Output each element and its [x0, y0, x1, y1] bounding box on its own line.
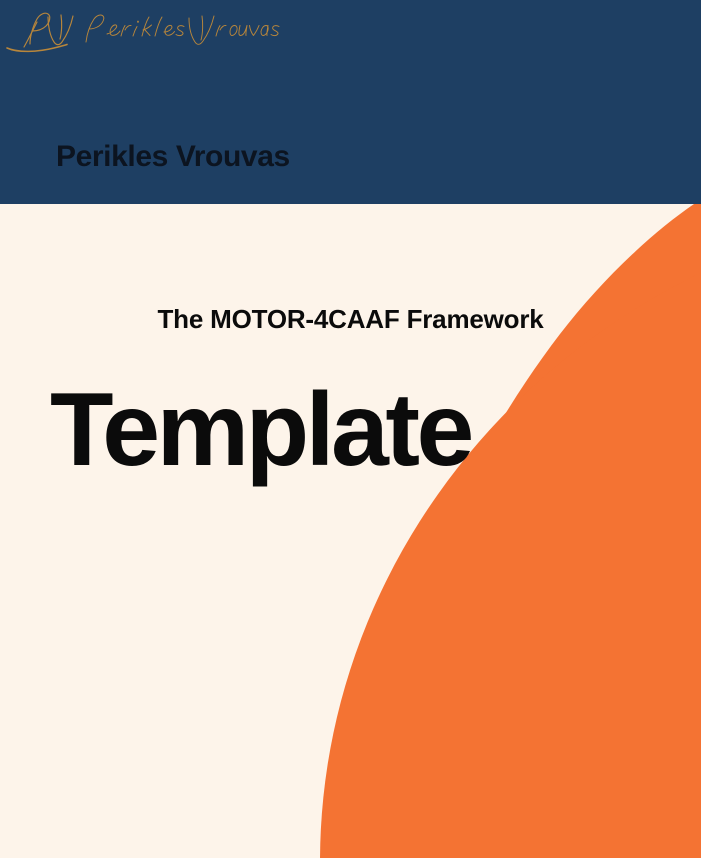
document-title: Template	[0, 332, 701, 482]
author-name: Perikles Vrouvas	[56, 140, 290, 174]
document-cover-page: Perikles Vrouvas The MOTOR-4CAAF Framewo…	[0, 0, 701, 858]
pv-signature-logo	[4, 6, 284, 54]
framework-subtitle: The MOTOR-4CAAF Framework	[0, 204, 701, 332]
cover-text-block: The MOTOR-4CAAF Framework Template	[0, 204, 701, 482]
